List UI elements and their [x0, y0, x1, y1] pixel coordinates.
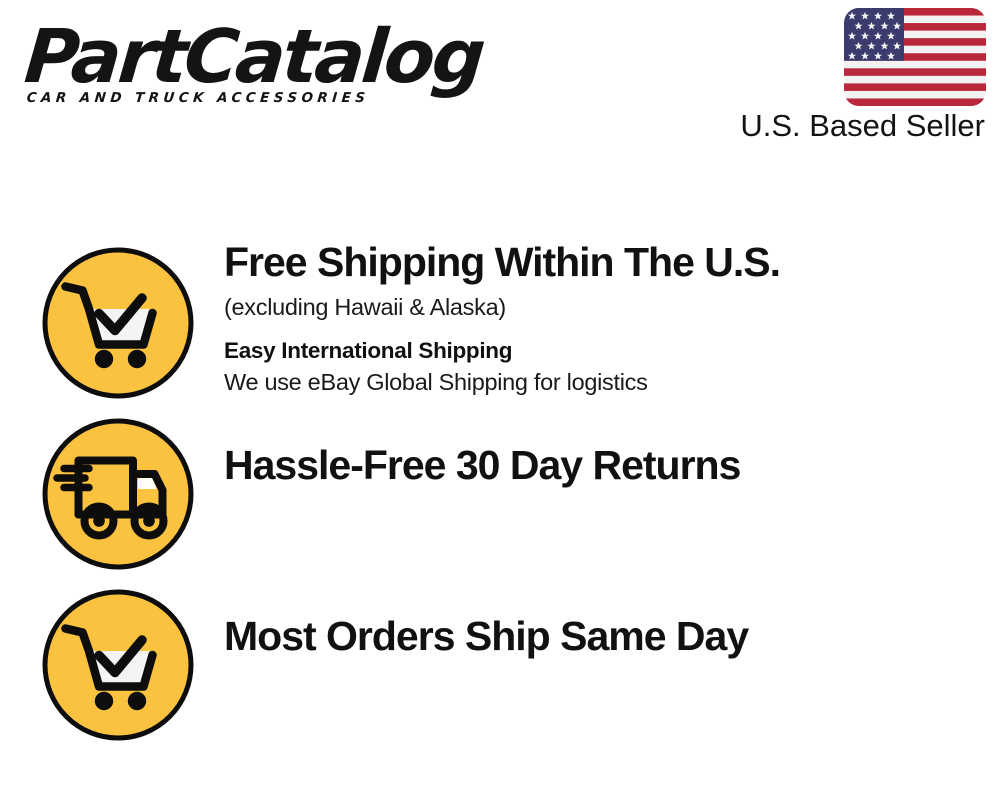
shopping-cart-check-icon [42, 247, 194, 399]
brand-wordmark: PartCatalog [22, 20, 498, 94]
list-item: Free Shipping Within The U.S. (excluding… [0, 232, 1000, 403]
feature-subtitle-strong: Easy International Shipping [224, 336, 1000, 366]
feature-list: Free Shipping Within The U.S. (excluding… [0, 232, 1000, 745]
feature-text-block: Hassle-Free 30 Day Returns [194, 403, 1000, 490]
shipping-info-banner: PartCatalog CAR AND TRUCK ACCESSORIES [0, 0, 1000, 800]
brand-logo: PartCatalog CAR AND TRUCK ACCESSORIES [22, 20, 492, 120]
list-item: Most Orders Ship Same Day [0, 574, 1000, 745]
us-based-seller-badge: U.S. Based Seller [706, 8, 986, 144]
list-item: Hassle-Free 30 Day Returns [0, 403, 1000, 574]
feature-text-block: Free Shipping Within The U.S. (excluding… [194, 232, 1000, 398]
us-based-seller-label: U.S. Based Seller [740, 108, 985, 144]
feature-subtitle-secondary: We use eBay Global Shipping for logistic… [224, 367, 1000, 398]
brand-tagline: CAR AND TRUCK ACCESSORIES [26, 90, 493, 106]
feature-text-block: Most Orders Ship Same Day [194, 574, 1000, 661]
feature-subtitle: (excluding Hawaii & Alaska) [224, 292, 1000, 323]
feature-title: Free Shipping Within The U.S. [224, 238, 1000, 287]
feature-title: Most Orders Ship Same Day [224, 612, 1000, 661]
feature-title: Hassle-Free 30 Day Returns [224, 441, 1000, 490]
us-flag-icon [844, 8, 986, 106]
delivery-truck-icon [42, 418, 194, 570]
shopping-cart-check-icon [42, 589, 194, 741]
